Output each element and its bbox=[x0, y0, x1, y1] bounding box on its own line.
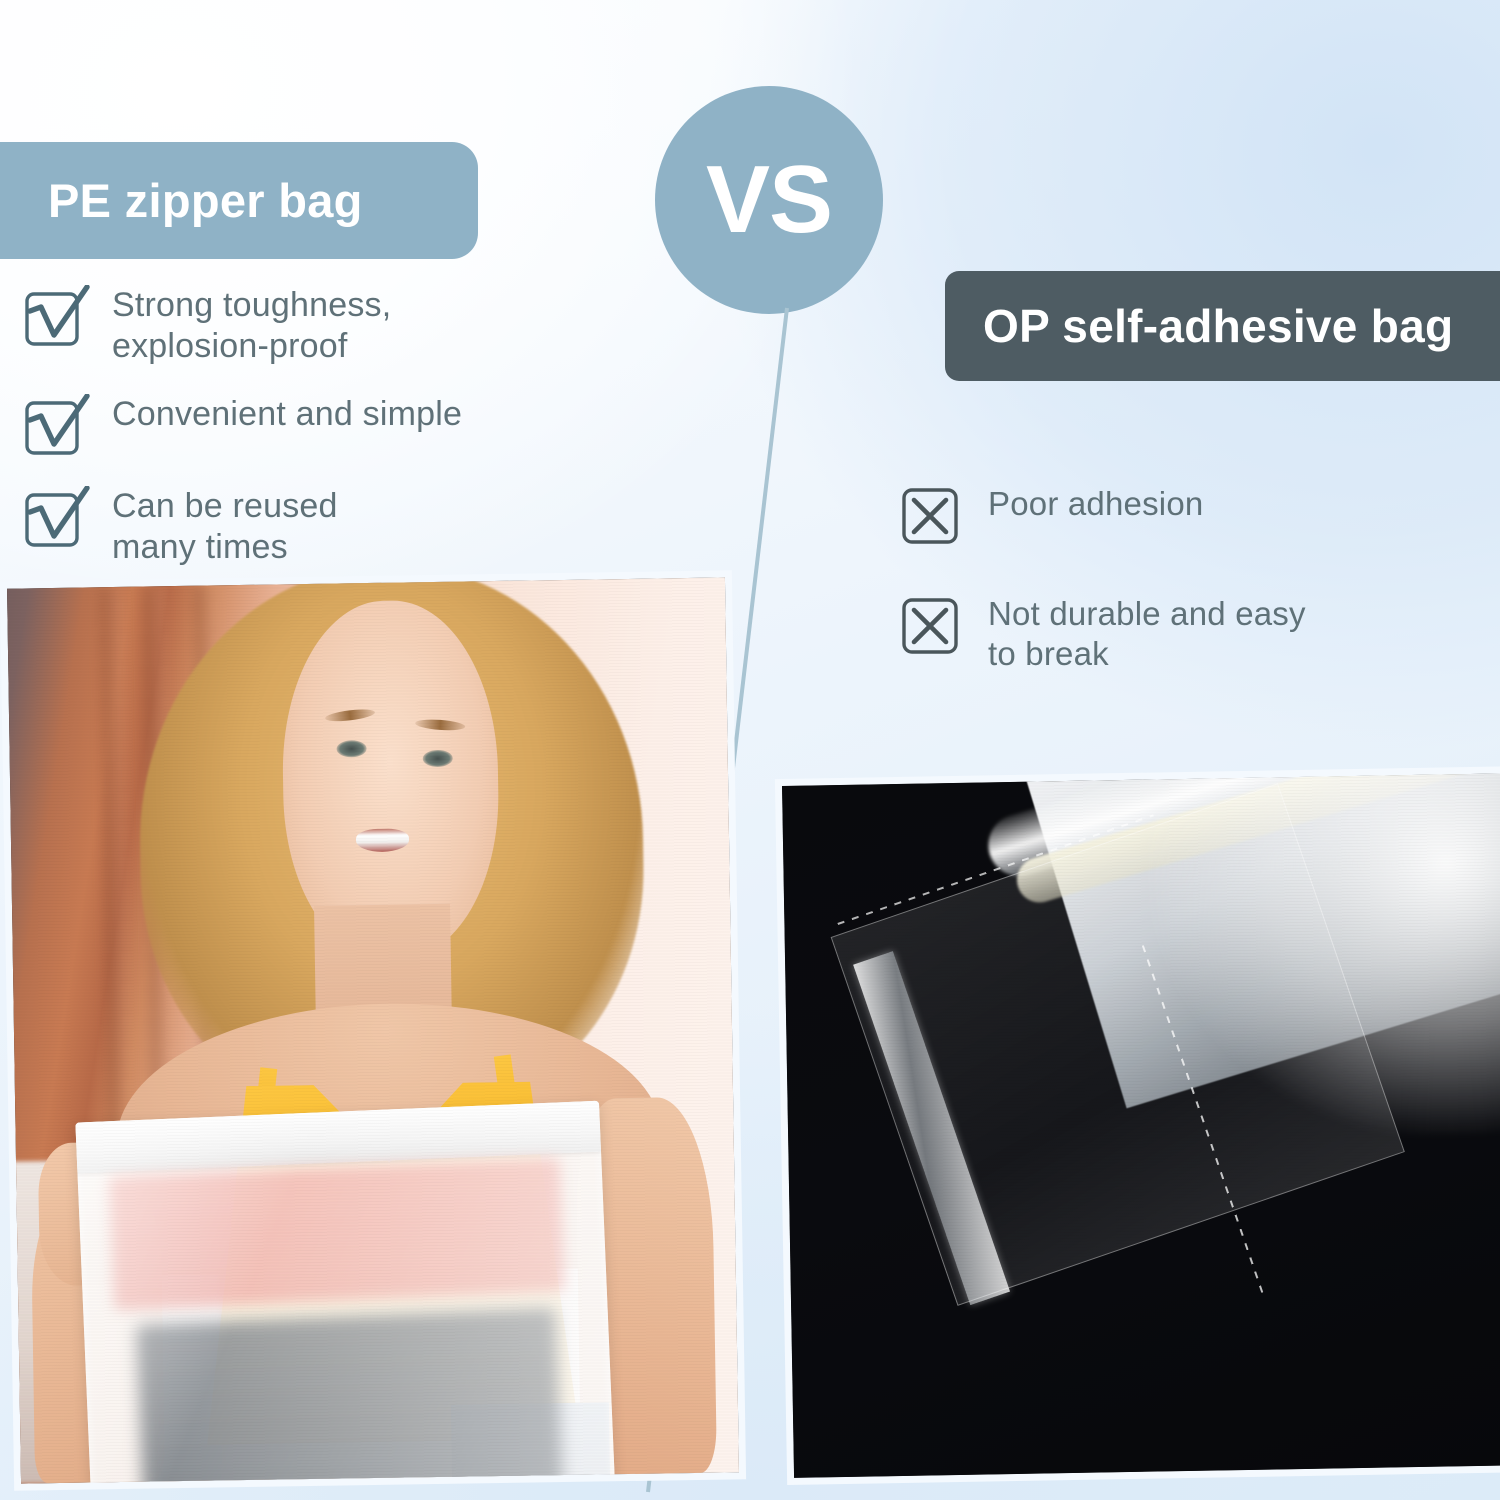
list-item: Strong toughness, explosion-proof bbox=[24, 283, 584, 368]
feature-text: Convenient and simple bbox=[112, 392, 462, 435]
list-item: Poor adhesion bbox=[900, 482, 1460, 550]
infographic-canvas: VS PE zipper bag OP self-adhesive bag St… bbox=[0, 0, 1500, 1500]
right-column-header-badge: OP self-adhesive bag bbox=[945, 271, 1500, 381]
right-feature-list: Poor adhesion Not durable and easy to br… bbox=[900, 482, 1460, 717]
feature-line-1: Convenient and simple bbox=[112, 394, 462, 435]
feature-line-1: Not durable and easy bbox=[988, 594, 1306, 634]
feature-text: Can be reused many times bbox=[112, 484, 338, 569]
feature-line-1: Strong toughness, bbox=[112, 285, 391, 326]
feature-line-1: Can be reused bbox=[112, 486, 338, 527]
cross-square-icon bbox=[900, 594, 966, 660]
left-product-photo bbox=[7, 577, 739, 1483]
left-feature-list: Strong toughness, explosion-proof Conven… bbox=[24, 283, 584, 593]
feature-line-2: explosion-proof bbox=[112, 326, 391, 367]
check-square-icon bbox=[24, 486, 90, 552]
check-square-icon bbox=[24, 394, 90, 460]
feature-line-2: to break bbox=[988, 634, 1306, 674]
left-column-title: PE zipper bag bbox=[48, 173, 363, 228]
check-square-icon bbox=[24, 285, 90, 351]
right-product-photo bbox=[782, 773, 1500, 1478]
feature-text: Strong toughness, explosion-proof bbox=[112, 283, 391, 368]
bag-sheen bbox=[75, 1101, 615, 1484]
feature-line-2: many times bbox=[112, 527, 338, 568]
eye-left bbox=[336, 740, 366, 757]
left-column-header-badge: PE zipper bag bbox=[0, 142, 478, 259]
pe-zipper-bag bbox=[75, 1101, 615, 1484]
left-photo-scene bbox=[7, 577, 739, 1483]
list-item: Not durable and easy to break bbox=[900, 592, 1460, 675]
cross-square-icon bbox=[900, 484, 966, 550]
list-item: Can be reused many times bbox=[24, 484, 584, 569]
vs-badge: VS bbox=[655, 86, 883, 314]
opp-bag-gloss bbox=[1146, 773, 1500, 1140]
feature-text: Poor adhesion bbox=[988, 482, 1203, 524]
list-item: Convenient and simple bbox=[24, 392, 584, 460]
right-column-title: OP self-adhesive bag bbox=[983, 299, 1453, 353]
feature-line-1: Poor adhesion bbox=[988, 484, 1203, 524]
right-photo-scene bbox=[782, 773, 1500, 1478]
feature-text: Not durable and easy to break bbox=[988, 592, 1306, 675]
vs-label: VS bbox=[706, 145, 832, 255]
